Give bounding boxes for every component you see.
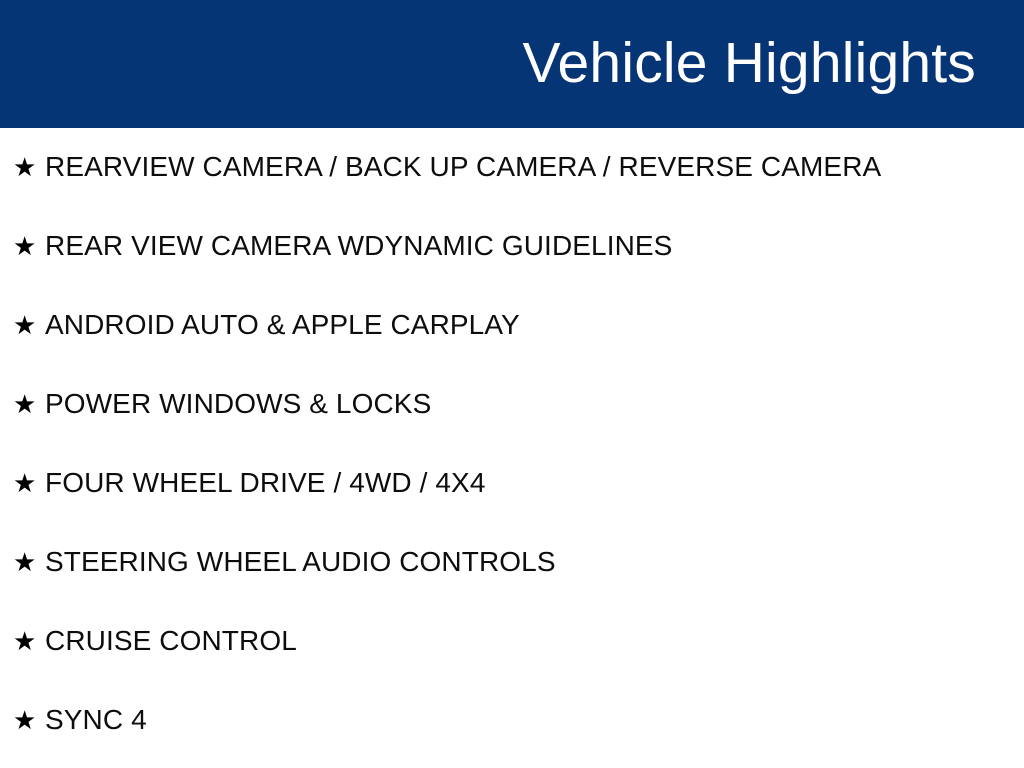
star-bullet-icon: ★ xyxy=(13,155,45,181)
list-item-label: POWER WINDOWS & LOCKS xyxy=(45,389,1024,420)
star-bullet-icon: ★ xyxy=(13,392,45,418)
list-item: ★ FOUR WHEEL DRIVE / 4WD / 4X4 xyxy=(0,444,1024,523)
star-bullet-icon: ★ xyxy=(13,471,45,497)
list-item: ★ REARVIEW CAMERA / BACK UP CAMERA / REV… xyxy=(0,128,1024,207)
header-banner: Vehicle Highlights xyxy=(0,0,1024,128)
vehicle-highlights-list: ★ REARVIEW CAMERA / BACK UP CAMERA / REV… xyxy=(0,128,1024,760)
star-bullet-icon: ★ xyxy=(13,234,45,260)
list-item: ★ CRUISE CONTROL xyxy=(0,602,1024,681)
list-item-label: SYNC 4 xyxy=(45,705,1024,736)
star-bullet-icon: ★ xyxy=(13,708,45,734)
list-item: ★ REAR VIEW CAMERA WDYNAMIC GUIDELINES xyxy=(0,207,1024,286)
page-title: Vehicle Highlights xyxy=(522,34,976,94)
vehicle-highlights-slide: Vehicle Highlights ★ REARVIEW CAMERA / B… xyxy=(0,0,1024,768)
list-item-label: REAR VIEW CAMERA WDYNAMIC GUIDELINES xyxy=(45,231,1024,262)
list-item-label: FOUR WHEEL DRIVE / 4WD / 4X4 xyxy=(45,468,1024,499)
list-item: ★ SYNC 4 xyxy=(0,681,1024,760)
list-item: ★ ANDROID AUTO & APPLE CARPLAY xyxy=(0,286,1024,365)
star-bullet-icon: ★ xyxy=(13,550,45,576)
list-item: ★ STEERING WHEEL AUDIO CONTROLS xyxy=(0,523,1024,602)
list-item: ★ POWER WINDOWS & LOCKS xyxy=(0,365,1024,444)
list-item-label: ANDROID AUTO & APPLE CARPLAY xyxy=(45,310,1024,341)
list-item-label: REARVIEW CAMERA / BACK UP CAMERA / REVER… xyxy=(45,152,1024,183)
list-item-label: STEERING WHEEL AUDIO CONTROLS xyxy=(45,547,1024,578)
star-bullet-icon: ★ xyxy=(13,629,45,655)
star-bullet-icon: ★ xyxy=(13,313,45,339)
list-item-label: CRUISE CONTROL xyxy=(45,626,1024,657)
